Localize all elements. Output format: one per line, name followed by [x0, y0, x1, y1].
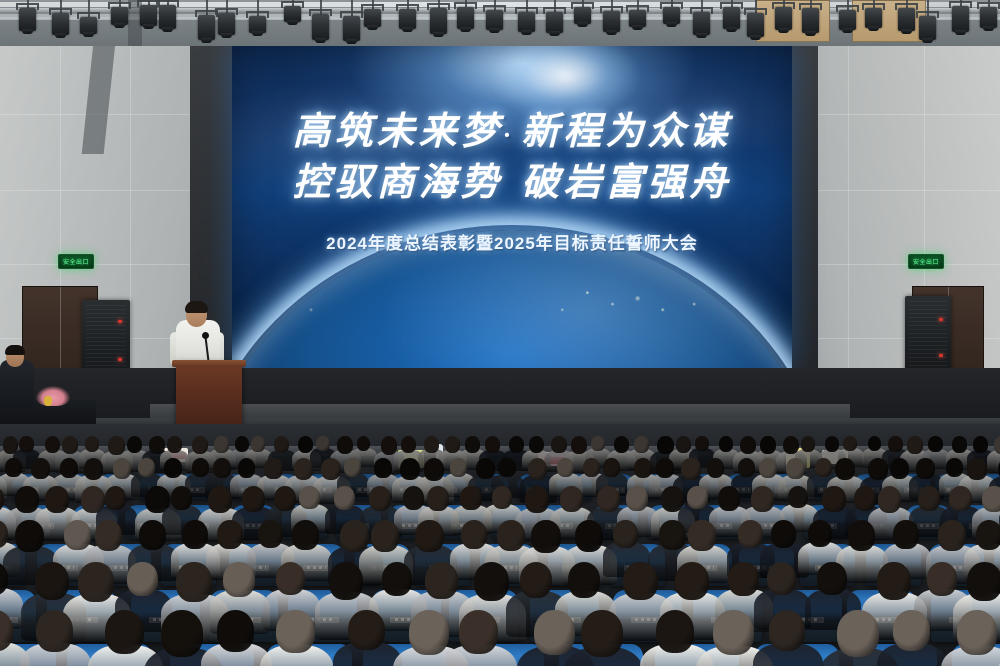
- audience-member-head: [459, 610, 498, 654]
- slogan-line-2-right: 破岩富强舟: [521, 162, 731, 204]
- audience-member-head: [498, 458, 515, 477]
- moving-head-light-icon: [80, 17, 97, 34]
- audience-member-head: [474, 562, 509, 601]
- audience-member-head: [740, 436, 756, 454]
- audience-member-head: [182, 520, 208, 549]
- moving-head-light-icon: [140, 5, 157, 26]
- audience-member-head: [938, 520, 966, 551]
- audience-member-head: [656, 458, 674, 478]
- audience-member-head: [531, 520, 560, 553]
- audience-member-head: [400, 458, 420, 480]
- audience-member-head: [952, 436, 967, 453]
- exit-sign-right: 安全出口: [908, 254, 944, 269]
- seated-guest-hair: [5, 345, 25, 355]
- audience-member-head: [274, 436, 289, 453]
- moving-head-light-icon: [865, 8, 882, 28]
- moving-head-light-icon: [663, 7, 680, 24]
- moving-head-light-icon: [111, 7, 128, 25]
- audience-member-head: [497, 520, 525, 551]
- audience-member-head: [164, 458, 182, 478]
- audience-member-head: [967, 562, 1000, 601]
- audience-member-head: [738, 458, 755, 477]
- audience-member-head: [161, 610, 203, 657]
- audience-member-head: [45, 436, 61, 453]
- exit-sign-left: 安全出口: [58, 254, 94, 269]
- moving-head-light-icon: [343, 16, 360, 41]
- audience-member-head: [529, 436, 544, 453]
- moving-head-light-icon: [284, 6, 301, 22]
- audience-member-head: [769, 610, 806, 651]
- audience-member-head: [85, 436, 99, 452]
- audience-member-head: [60, 458, 78, 478]
- audience-member-head: [461, 520, 487, 549]
- audience-member-head: [401, 436, 416, 453]
- audience-member-head: [681, 458, 700, 480]
- audience-member-head: [713, 610, 753, 655]
- presenter-hair: [185, 301, 208, 313]
- audience-member-head: [127, 436, 143, 453]
- audience-member-head: [751, 486, 774, 512]
- audience-member-head: [348, 610, 384, 650]
- audience-member-head: [292, 520, 318, 550]
- audience-member-head: [949, 486, 972, 511]
- audience-member-head: [337, 436, 353, 454]
- audience-member-head: [597, 486, 621, 512]
- audience-member-head: [907, 436, 923, 454]
- audience-member-head: [251, 436, 265, 452]
- audience-member-head: [835, 458, 855, 480]
- audience-member-head: [634, 458, 652, 478]
- audience-member-head: [149, 436, 165, 454]
- audience-member-head: [382, 562, 412, 596]
- audience-member-head: [242, 486, 265, 512]
- audience-member-head: [208, 486, 232, 513]
- slogan-line-2: 控驭商海势·破岩富强舟: [232, 159, 792, 210]
- screen-text-block: 高筑未来梦·新程为众谋 控驭商海势·破岩富强舟 2024年度总结表彰暨2025年…: [232, 108, 792, 254]
- audience-member-head: [113, 458, 131, 479]
- moving-head-light-icon: [802, 8, 819, 33]
- audience-member-head: [848, 520, 875, 551]
- audience-member-head: [509, 436, 524, 453]
- audience-member-head: [613, 520, 638, 548]
- moving-head-light-icon: [546, 12, 563, 33]
- audience-member-head: [759, 458, 777, 478]
- moving-head-light-icon: [839, 10, 856, 30]
- audience-member-head: [108, 436, 125, 455]
- audience-member-head: [15, 520, 43, 552]
- audience-member-head: [760, 436, 776, 454]
- audience-member-head: [274, 486, 296, 511]
- audience-member-head: [525, 486, 549, 513]
- audience-member-head: [893, 520, 919, 549]
- audience-member-head: [815, 458, 832, 477]
- audience-member-head: [626, 486, 648, 511]
- moving-head-light-icon: [723, 7, 740, 29]
- podium-top: [172, 360, 246, 367]
- audience-member-head: [877, 562, 911, 600]
- audience-member-head: [294, 458, 313, 480]
- moving-head-light-icon: [430, 8, 447, 34]
- audience-member-head: [5, 458, 22, 477]
- audience-member-head: [460, 486, 481, 510]
- moving-head-light-icon: [574, 7, 591, 24]
- audience-member-head: [817, 562, 847, 595]
- audience-member-head: [528, 458, 548, 480]
- audience-member-head: [217, 520, 243, 549]
- moving-head-light-icon: [486, 10, 503, 30]
- audience-member-head: [64, 520, 91, 550]
- audience-member-head: [771, 520, 796, 548]
- audience-member-head: [591, 436, 605, 451]
- moving-head-light-icon: [198, 15, 215, 40]
- audience-member-head: [214, 436, 229, 453]
- moving-head-light-icon: [952, 6, 969, 32]
- audience-member-head: [808, 520, 832, 547]
- audience-member-head: [890, 458, 909, 479]
- audience-member-head: [316, 436, 330, 451]
- audience-member-head: [238, 458, 256, 478]
- audience-member-head: [15, 486, 39, 513]
- audience-member-head: [982, 486, 1000, 512]
- led-video-wall: 高筑未来梦·新程为众谋 控驭商海势·破岩富强舟 2024年度总结表彰暨2025年…: [232, 44, 792, 370]
- seated-guest-left: [0, 360, 34, 410]
- audience-area: [0, 424, 1000, 666]
- audience-member-head: [357, 436, 371, 451]
- audience-member-head: [95, 520, 123, 551]
- audience-member-head: [223, 562, 254, 597]
- audience-member-head: [476, 458, 495, 479]
- screen-subtitle: 2024年度总结表彰暨2025年目标责任誓师大会: [232, 229, 792, 254]
- audience-member-head: [822, 486, 845, 512]
- slogan-line-1-left: 高筑未来梦: [293, 111, 503, 153]
- audience-member-head: [583, 458, 600, 477]
- audience-member-head: [276, 610, 315, 653]
- audience-member-head: [568, 562, 600, 598]
- moving-head-light-icon: [218, 13, 235, 35]
- slogan-separator: ·: [503, 120, 522, 149]
- audience-member-head: [927, 562, 957, 596]
- audience-member-head: [868, 436, 882, 451]
- audience-member-head: [381, 436, 398, 455]
- audience-member-head: [916, 458, 934, 479]
- audience-member-head: [344, 458, 361, 477]
- audience-member-head: [235, 436, 249, 452]
- slogan-line-1: 高筑未来梦·新程为众谋: [232, 108, 792, 159]
- audience-member-head: [424, 458, 444, 481]
- moving-head-light-icon: [457, 7, 474, 29]
- audience-member-head: [192, 458, 209, 477]
- moving-head-light-icon: [399, 9, 416, 29]
- audience-member-head: [19, 436, 33, 452]
- audience-member-head: [695, 436, 709, 451]
- audience-member-head: [738, 520, 763, 548]
- audience-member-head: [786, 458, 805, 479]
- audience-member-head: [973, 436, 988, 453]
- audience-member-head: [551, 436, 567, 453]
- audience-member-head: [299, 486, 320, 509]
- audience-member-head: [788, 486, 808, 508]
- audience-member-head: [801, 436, 815, 452]
- audience-member-head: [409, 610, 449, 655]
- moving-head-light-icon: [775, 7, 792, 30]
- audience-member-head: [659, 520, 685, 550]
- audience-member-head: [676, 436, 691, 453]
- audience-member-head: [334, 486, 355, 510]
- audience-member-head: [213, 458, 231, 478]
- moving-head-light-icon: [980, 7, 997, 28]
- audience-member-head: [139, 520, 166, 550]
- audience-member-head: [176, 562, 212, 602]
- audience-member-head: [264, 458, 282, 479]
- moving-head-light-icon: [159, 5, 176, 29]
- audience-member-head: [675, 562, 709, 600]
- moving-head-light-icon: [919, 16, 936, 40]
- moving-head-light-icon: [249, 16, 266, 33]
- moving-head-light-icon: [19, 8, 36, 31]
- audience-member-head: [719, 436, 733, 452]
- audience-member-head: [854, 486, 876, 511]
- audience-member-head: [167, 436, 182, 453]
- audience-member-head: [171, 486, 192, 510]
- moving-head-light-icon: [898, 8, 915, 31]
- moving-head-light-icon: [518, 12, 535, 32]
- microphone-head: [202, 332, 209, 339]
- audience-member-head: [276, 562, 306, 595]
- audience-member-head: [957, 610, 997, 655]
- audience-member-head: [425, 562, 458, 599]
- audience-member-head: [656, 610, 694, 653]
- audience-member-head: [718, 486, 740, 511]
- moving-head-light-icon: [747, 13, 764, 37]
- moving-head-light-icon: [629, 10, 646, 27]
- audience-member-head: [728, 562, 758, 596]
- audience-member-head: [485, 436, 500, 453]
- audience-member-head: [492, 486, 513, 509]
- audience-member-head: [36, 610, 73, 652]
- audience-member-head: [603, 458, 620, 477]
- audience-member-head: [84, 458, 103, 480]
- moving-head-light-icon: [312, 14, 329, 40]
- audience-member-head: [450, 458, 467, 477]
- audience-member-head: [427, 486, 449, 511]
- audience-member-head: [946, 458, 963, 477]
- audience-member-head: [105, 486, 126, 510]
- moving-head-light-icon: [603, 11, 620, 32]
- audience-member-head: [415, 520, 443, 552]
- audience-member-head: [403, 486, 424, 510]
- audience-member-head: [976, 520, 1000, 550]
- audience-member-head: [575, 520, 603, 552]
- audience-member-head: [520, 562, 553, 598]
- flower-arrangement: [36, 386, 70, 406]
- audience-member-head: [581, 610, 623, 657]
- audience-member-head: [688, 520, 716, 551]
- audience-member-head: [35, 562, 69, 600]
- audience-member-head: [918, 486, 940, 511]
- audience-member-head: [374, 458, 392, 478]
- audience-member-head: [465, 436, 480, 453]
- audience-member-head: [192, 436, 208, 454]
- audience-member-head: [878, 486, 902, 513]
- audience-member-head: [445, 436, 460, 453]
- moving-head-light-icon: [52, 13, 69, 35]
- audience-member-head: [62, 436, 78, 454]
- audience-member-head: [994, 436, 1000, 454]
- audience-member-head: [329, 562, 363, 600]
- audience-member-head: [534, 610, 574, 655]
- podium: [176, 363, 242, 427]
- audience-member-head: [571, 436, 587, 454]
- audience-member-head: [127, 562, 157, 596]
- audience-member-head: [623, 562, 657, 600]
- audience-member-head: [424, 436, 439, 453]
- audience-member-head: [614, 436, 629, 453]
- audience-member-head: [217, 610, 254, 652]
- audience-member-head: [340, 520, 369, 552]
- audience-member-head: [31, 458, 50, 479]
- moving-head-light-icon: [364, 9, 381, 27]
- audience-member-head: [45, 486, 69, 513]
- audience-member-head: [888, 436, 903, 452]
- audience-member-head: [78, 562, 113, 602]
- moving-head-light-icon: [693, 12, 710, 35]
- audience-member-head: [825, 436, 839, 452]
- audience-member-head: [707, 458, 725, 478]
- audience-member-head: [105, 610, 144, 654]
- audience-member-head: [843, 436, 857, 451]
- audience-member-head: [258, 520, 283, 548]
- conference-hall-photo: 安全出口 安全出口 高筑未来梦·新程为众谋 控驭商海势·破岩富强舟: [0, 0, 1000, 666]
- audience-member-head: [560, 486, 583, 512]
- slogan-line-2-left: 控驭商海势: [293, 162, 503, 204]
- exit-sign-left-text: 安全出口: [63, 257, 89, 266]
- audience-member-head: [967, 458, 987, 480]
- audience-member-head: [371, 520, 399, 552]
- audience-member-head: [928, 436, 942, 452]
- audience-member-head: [138, 458, 155, 477]
- audience-member-head: [557, 458, 574, 477]
- audience-member-head: [868, 458, 888, 480]
- slogan-line-1-right: 新程为众谋: [521, 111, 731, 153]
- audience-member-head: [767, 562, 797, 595]
- audience-member-head: [837, 610, 879, 657]
- audience-member-head: [369, 486, 392, 511]
- audience-member-head: [687, 486, 707, 509]
- audience-member-head: [893, 610, 930, 651]
- audience-member-head: [634, 436, 649, 453]
- exit-sign-right-text: 安全出口: [913, 257, 939, 266]
